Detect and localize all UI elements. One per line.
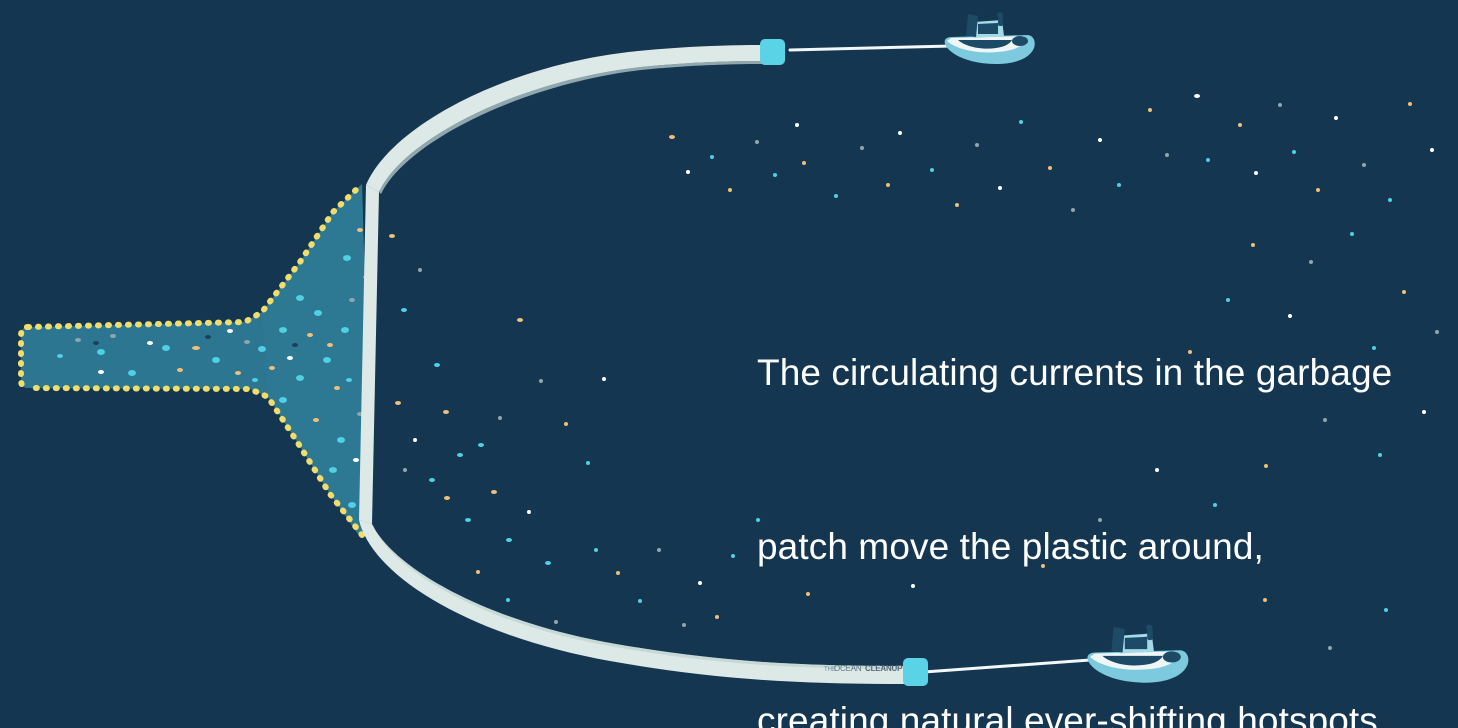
logo-main-text-1: OCEAN — [834, 664, 862, 673]
lower-vessel-mast — [1111, 627, 1124, 653]
lower-connector-block — [903, 658, 928, 686]
lower-vessel-radar — [1146, 624, 1153, 631]
upper-vessel-radar — [997, 12, 1003, 18]
lower-vessel-aft-marker — [1163, 651, 1181, 662]
scene-graphic: THE OCEAN CLEANUP — [0, 0, 1458, 728]
upper-connector-block — [760, 39, 785, 65]
upper-vessel-mast — [966, 14, 978, 37]
lower-vessel-cabin-window — [1125, 637, 1147, 649]
logo-main-text-2: CLEANUP — [865, 664, 903, 673]
upper-vessel-aft-marker — [1012, 36, 1028, 46]
ocean-cleanup-illustration: THE OCEAN CLEANUP The circulating curren… — [0, 0, 1458, 728]
upper-vessel-cabin-window — [978, 23, 998, 34]
